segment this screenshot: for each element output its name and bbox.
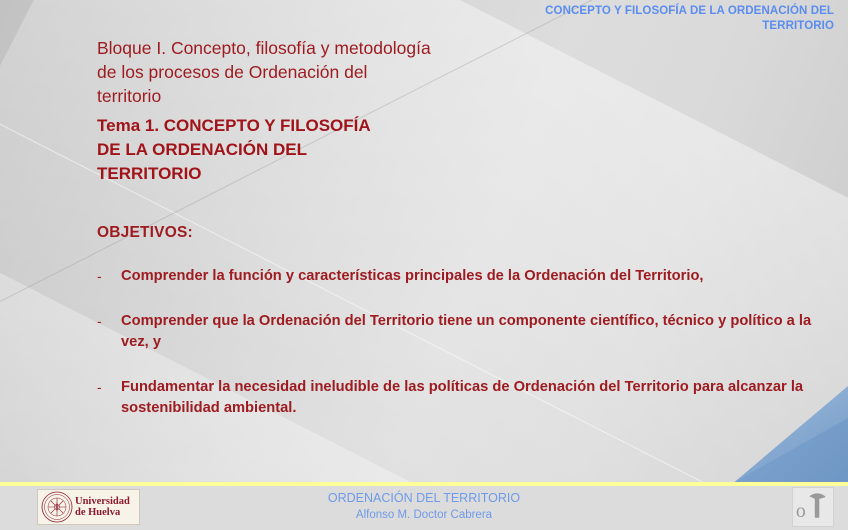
- objectives-list: - Comprender la función y característica…: [95, 266, 825, 443]
- slide-header-line-2: TERRITORIO: [414, 19, 834, 34]
- slide-header-line-1: CONCEPTO Y FILOSOFÍA DE LA ORDENACIÓN DE…: [414, 4, 834, 19]
- slide-header: CONCEPTO Y FILOSOFÍA DE LA ORDENACIÓN DE…: [414, 4, 834, 34]
- bloque-title-line-1: Bloque I. Concepto, filosofía y metodolo…: [97, 36, 517, 60]
- footer-text: ORDENACIÓN DEL TERRITORIO Alfonso M. Doc…: [0, 490, 848, 524]
- bullet-dash-icon: -: [97, 377, 102, 398]
- bullet-dash-icon: -: [97, 266, 102, 287]
- list-item-text: Fundamentar la necesidad ineludible de l…: [121, 379, 803, 416]
- svg-text:o: o: [796, 500, 806, 522]
- list-item: - Comprender la función y característica…: [95, 266, 825, 287]
- title-block: Bloque I. Concepto, filosofía y metodolo…: [97, 36, 517, 186]
- tema-title-line-3: TERRITORIO: [97, 162, 517, 186]
- bullet-dash-icon: -: [97, 311, 102, 332]
- presentation-slide: CONCEPTO Y FILOSOFÍA DE LA ORDENACIÓN DE…: [0, 0, 848, 530]
- list-item-text: Comprender la función y características …: [121, 268, 704, 284]
- list-item: - Comprender que la Ordenación del Terri…: [95, 311, 825, 353]
- tema-title-line-2: DE LA ORDENACIÓN DEL: [97, 138, 517, 162]
- objectives-heading: OBJETIVOS:: [97, 224, 193, 242]
- list-item-text: Comprender que la Ordenación del Territo…: [121, 313, 811, 350]
- tema-title: Tema 1. CONCEPTO Y FILOSOFÍA DE LA ORDEN…: [97, 114, 517, 186]
- bloque-title-line-3: territorio: [97, 84, 517, 108]
- bloque-title: Bloque I. Concepto, filosofía y metodolo…: [97, 36, 517, 108]
- footer-author: Alfonso M. Doctor Cabrera: [0, 507, 848, 524]
- bloque-title-line-2: de los procesos de Ordenación del: [97, 60, 517, 84]
- ot-monogram-icon: o: [793, 489, 833, 525]
- ot-logo: o: [792, 487, 834, 527]
- tema-title-line-1: Tema 1. CONCEPTO Y FILOSOFÍA: [97, 114, 517, 138]
- footer-course-title: ORDENACIÓN DEL TERRITORIO: [0, 490, 848, 507]
- list-item: - Fundamentar la necesidad ineludible de…: [95, 377, 825, 419]
